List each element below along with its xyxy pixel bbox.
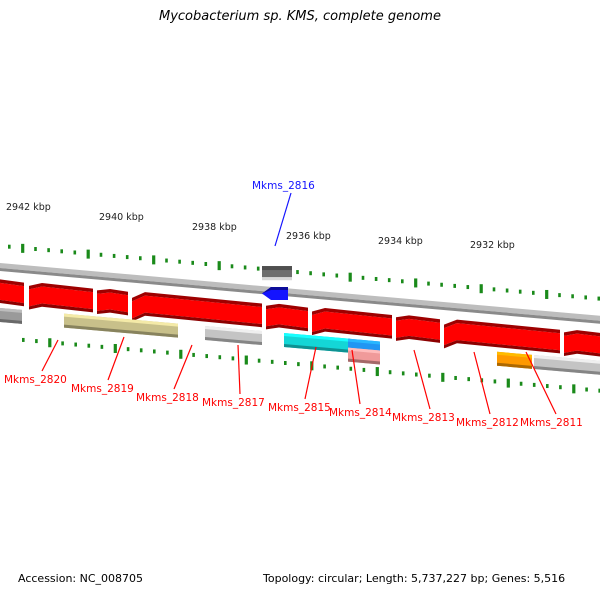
scale-tick-minor xyxy=(532,291,535,295)
scale-tick-minor xyxy=(61,341,64,345)
feature-label[interactable]: Mkms_2816 xyxy=(252,180,315,192)
scale-label[interactable]: 2934 kbp xyxy=(378,236,423,247)
gene-label[interactable]: Mkms_2817 xyxy=(202,397,265,409)
scale-tick-minor xyxy=(231,264,234,268)
gene-arrow[interactable] xyxy=(97,293,128,313)
scale-tick-minor xyxy=(494,379,497,383)
scale-tick-minor xyxy=(533,383,536,387)
scale-label[interactable]: 2932 kbp xyxy=(470,240,515,251)
gene-arrow[interactable] xyxy=(266,307,308,328)
gene-leader-line xyxy=(238,345,240,394)
scale-tick-minor xyxy=(126,255,129,259)
gene-label[interactable]: Mkms_2815 xyxy=(268,402,331,414)
scale-tick-minor xyxy=(127,347,130,351)
scale-tick-minor xyxy=(389,370,392,374)
scale-tick-minor xyxy=(60,249,63,253)
gene-label[interactable]: Mkms_2818 xyxy=(136,392,199,404)
scale-tick-minor xyxy=(571,294,574,298)
gene-label[interactable]: Mkms_2819 xyxy=(71,383,134,395)
scale-tick-minor xyxy=(296,270,299,274)
gene-label[interactable]: Mkms_2813 xyxy=(392,412,455,424)
scale-tick-minor xyxy=(140,348,143,352)
scale-tick-minor xyxy=(165,259,168,263)
scale-tick-minor xyxy=(322,272,325,276)
scale-tick-minor xyxy=(88,344,91,348)
scale-tick-minor xyxy=(363,368,366,372)
scale-tick-minor xyxy=(309,271,312,275)
scale-tick-major xyxy=(414,278,417,287)
scale-tick-minor xyxy=(388,278,391,282)
feature-box-shadow xyxy=(262,277,292,280)
scale-tick-minor xyxy=(166,351,169,355)
scale-tick-minor xyxy=(467,285,470,289)
scale-tick-major xyxy=(152,255,155,264)
scale-tick-minor xyxy=(584,295,587,299)
scale-tick-minor xyxy=(519,290,522,294)
scale-tick-minor xyxy=(362,276,365,280)
scale-tick-minor xyxy=(205,262,208,266)
scale-tick-minor xyxy=(139,256,142,260)
scale-tick-major xyxy=(545,290,548,299)
scale-tick-major xyxy=(507,379,510,388)
scale-tick-minor xyxy=(153,349,156,353)
scale-tick-minor xyxy=(257,267,260,271)
scale-tick-minor xyxy=(8,245,11,249)
scale-tick-minor xyxy=(428,374,431,378)
scale-tick-minor xyxy=(493,287,496,291)
scale-tick-minor xyxy=(520,382,523,386)
scale-tick-major xyxy=(48,338,51,347)
scale-tick-minor xyxy=(258,359,261,363)
scale-tick-minor xyxy=(323,364,326,368)
scale-tick-major xyxy=(179,350,182,359)
scale-tick-minor xyxy=(585,388,588,392)
scale-tick-major xyxy=(87,250,90,259)
scale-tick-minor xyxy=(506,289,509,293)
scale-tick-minor xyxy=(101,345,104,349)
scale-tick-major xyxy=(349,273,352,282)
genome-browser-view: Mycobacterium sp. KMS, complete genome 2… xyxy=(0,0,600,600)
scale-tick-minor xyxy=(440,283,443,287)
scale-tick-minor xyxy=(558,293,561,297)
scale-tick-minor xyxy=(401,279,404,283)
scale-label[interactable]: 2938 kbp xyxy=(192,222,237,233)
scale-tick-minor xyxy=(205,354,208,358)
genome-meta-text: Topology: circular; Length: 5,737,227 bp… xyxy=(263,572,565,585)
scale-tick-major xyxy=(480,284,483,293)
scale-tick-major xyxy=(114,344,117,353)
gene-label[interactable]: Mkms_2814 xyxy=(329,407,392,419)
gene-label[interactable]: Mkms_2812 xyxy=(456,417,519,429)
gene-leader-line xyxy=(474,352,490,414)
scale-tick-minor xyxy=(467,377,470,381)
scale-tick-minor xyxy=(232,356,235,360)
gene-leader-line xyxy=(108,337,124,380)
scale-tick-minor xyxy=(74,250,77,254)
scale-tick-minor xyxy=(402,371,405,375)
scale-tick-minor xyxy=(191,261,194,265)
scale-tick-major xyxy=(376,367,379,376)
scale-tick-major xyxy=(218,261,221,270)
scale-tick-minor xyxy=(47,248,50,252)
scale-tick-minor xyxy=(336,274,339,278)
scale-tick-minor xyxy=(244,265,247,269)
scale-tick-minor xyxy=(192,353,195,357)
gene-arrow[interactable] xyxy=(396,319,440,340)
scale-tick-minor xyxy=(219,355,222,359)
scale-tick-minor xyxy=(297,362,300,366)
gene-label[interactable]: Mkms_2811 xyxy=(520,417,583,429)
scale-tick-minor xyxy=(271,360,274,364)
scale-tick-minor xyxy=(113,254,116,258)
gene-leader-line xyxy=(174,345,192,389)
scale-tick-major xyxy=(21,244,24,253)
accession-text: Accession: NC_008705 xyxy=(18,572,143,585)
scale-tick-minor xyxy=(336,366,339,370)
scale-tick-minor xyxy=(375,277,378,281)
scale-tick-major xyxy=(572,384,575,393)
scale-tick-minor xyxy=(178,260,181,264)
scale-tick-minor xyxy=(415,373,418,377)
scale-label[interactable]: 2942 kbp xyxy=(6,202,51,213)
scale-tick-minor xyxy=(34,247,37,251)
genome-track-graphic xyxy=(0,0,600,600)
scale-tick-minor xyxy=(284,361,287,365)
gene-label[interactable]: Mkms_2820 xyxy=(4,374,67,386)
scale-tick-major xyxy=(245,356,248,365)
scale-tick-major xyxy=(441,373,444,382)
scale-tick-minor xyxy=(453,284,456,288)
scale-tick-minor xyxy=(100,253,103,257)
scale-tick-minor xyxy=(35,339,38,343)
scale-label[interactable]: 2936 kbp xyxy=(286,231,331,242)
gene-leader-line xyxy=(414,350,430,409)
scale-tick-minor xyxy=(22,338,25,342)
scale-tick-minor xyxy=(350,367,353,371)
gene-arrow[interactable] xyxy=(0,283,24,303)
scale-tick-minor xyxy=(427,282,430,286)
gene-leader-line xyxy=(305,347,316,399)
scale-tick-minor xyxy=(74,343,77,347)
scale-tick-minor xyxy=(559,385,562,389)
scale-tick-minor xyxy=(454,376,457,380)
scale-label[interactable]: 2940 kbp xyxy=(99,212,144,223)
scale-tick-minor xyxy=(546,384,549,388)
feature-box-bevel xyxy=(262,266,292,270)
